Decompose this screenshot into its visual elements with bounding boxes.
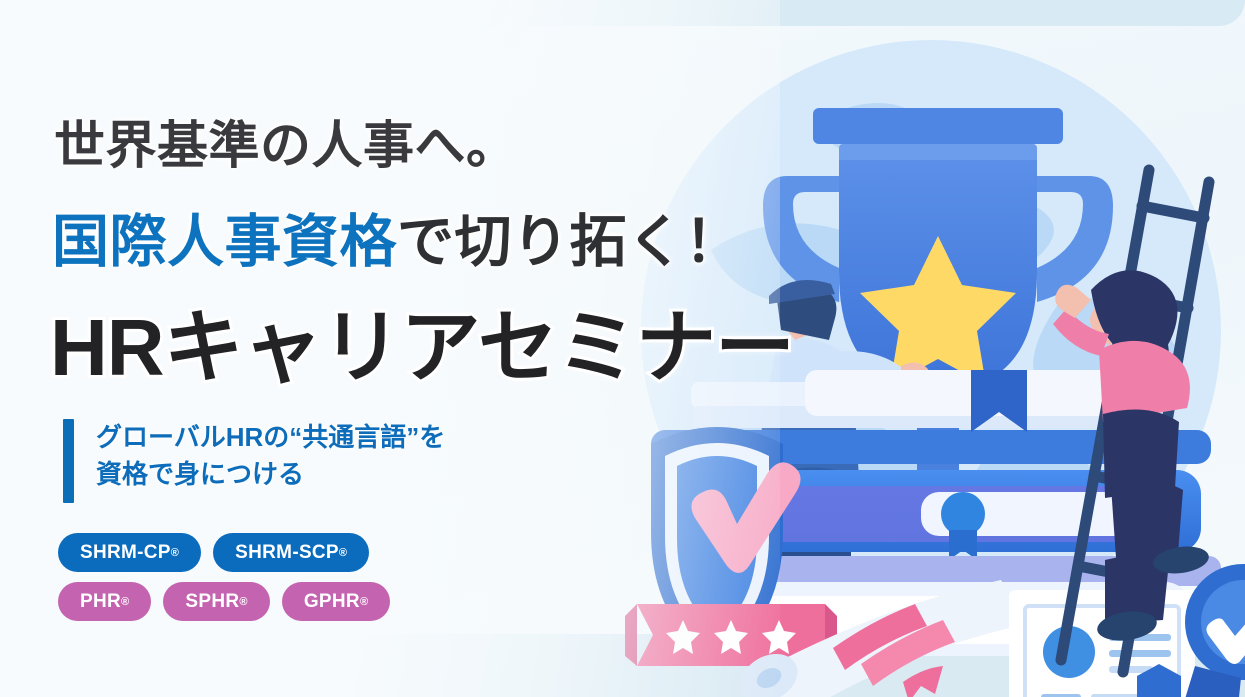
badge-label: SHRM-CP [80, 542, 171, 564]
badge-gphr: GPHR ® [282, 582, 391, 621]
certification-badges: SHRM-CP® SHRM-SCP® PHR® SPHR® GPHR ® [58, 533, 538, 631]
headline-highlight: 国際人事資格 [52, 210, 397, 274]
banner-copy: 世界基準の人事へ。 国際人事資格で切り拓く！ HRキャリアセミナー グローバルH… [0, 0, 1100, 697]
registered-mark: ® [360, 596, 368, 608]
badge-phr: PHR® [58, 582, 151, 621]
headline-line-2-rest: で切り拓く！ [397, 210, 742, 274]
registered-mark: ® [239, 596, 247, 608]
headline-line-2: 国際人事資格で切り拓く！ [52, 196, 742, 278]
subtitle-text: グローバルHRの“共通言語”を 資格で身につける [96, 419, 445, 493]
page-title: HRキャリアセミナー [50, 283, 794, 399]
hr-seminar-banner: 世界基準の人事へ。 国際人事資格で切り拓く！ HRキャリアセミナー グローバルH… [0, 0, 1245, 697]
badge-row-blue: SHRM-CP® SHRM-SCP® [58, 533, 538, 572]
subtitle-accent-bar [63, 419, 74, 503]
badge-label: SHRM-SCP [235, 542, 339, 564]
subtitle-block: グローバルHRの“共通言語”を 資格で身につける [63, 419, 445, 503]
badge-label: PHR [80, 591, 121, 613]
badge-label: SPHR [185, 591, 239, 613]
badge-shrm-cp: SHRM-CP® [58, 533, 201, 572]
headline-line-1: 世界基準の人事へ。 [54, 104, 518, 178]
badge-row-pink: PHR® SPHR® GPHR ® [58, 582, 538, 621]
registered-mark: ® [121, 596, 129, 608]
badge-sphr: SPHR® [163, 582, 269, 621]
subtitle-line-1: グローバルHRの“共通言語”を [96, 419, 445, 456]
subtitle-line-2: 資格で身につける [96, 456, 445, 493]
registered-mark: ® [171, 547, 179, 559]
badge-shrm-scp: SHRM-SCP® [213, 533, 369, 572]
registered-mark: ® [339, 547, 347, 559]
badge-label: GPHR [304, 591, 360, 613]
